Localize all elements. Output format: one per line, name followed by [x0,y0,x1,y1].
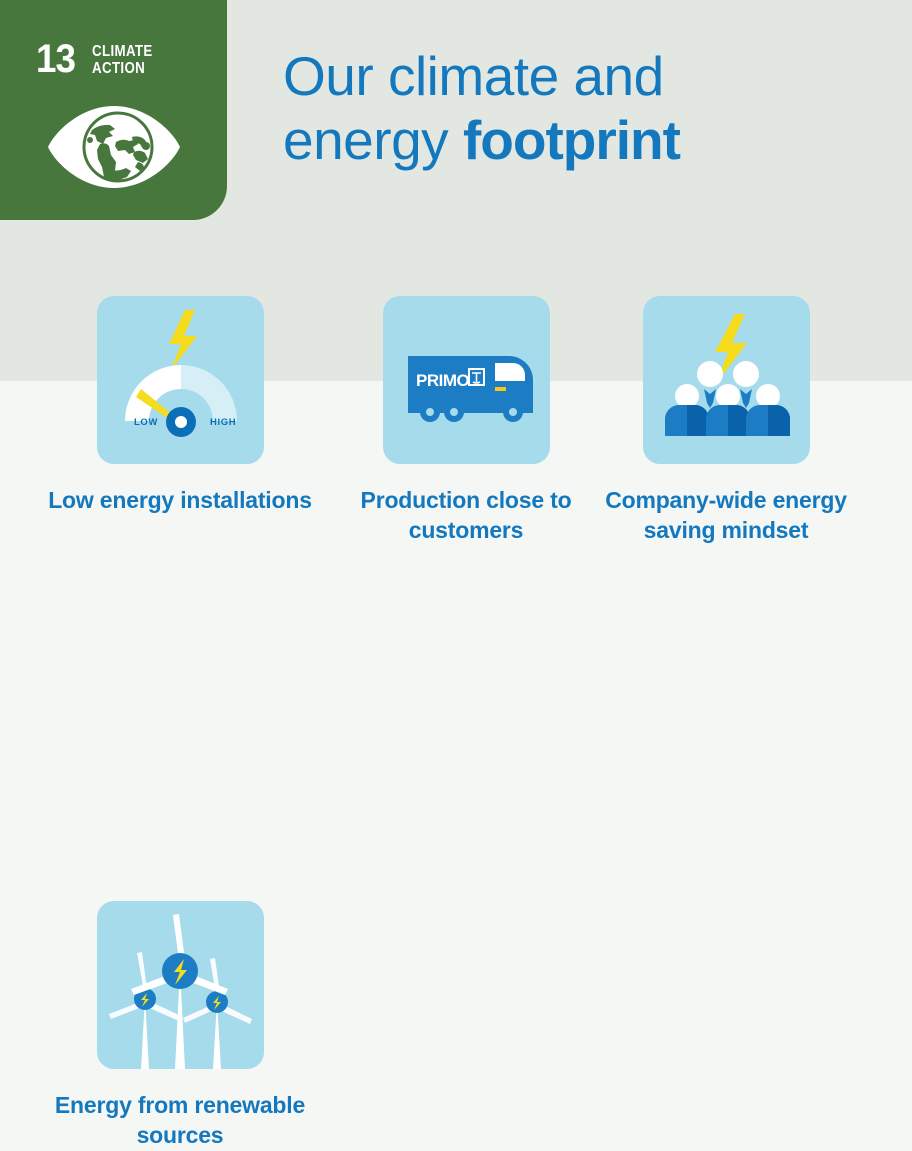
page-title: Our climate and energy footprint [283,45,883,173]
feature-card-caption: Production close to customers [316,485,616,546]
sdg-goal-title-line2: ACTION [92,60,153,77]
sdg-goal-number: 13 [36,40,75,78]
feature-card-caption: Energy from renewable sources [30,1090,330,1151]
page-title-line2: energy footprint [283,109,883,173]
eye-globe-icon [46,104,182,190]
feature-card-row-2: Energy from renewable sources [0,601,912,901]
sdg-goal-title-line1: CLIMATE [92,43,153,60]
feature-card-production-close[interactable]: PRIMO Production close to customers [316,296,616,546]
feature-card-row-1: LOW HIGH Low energy installations [0,296,912,601]
page-title-line1: Our climate and [283,45,883,109]
feature-card-caption: Company-wide energy saving mindset [576,485,876,546]
sdg-badge-header: 13 CLIMATE ACTION [36,40,162,78]
svg-text:LOW: LOW [134,417,158,428]
page-title-line2-regular: energy [283,109,463,171]
feature-card-grid: LOW HIGH Low energy installations [0,296,912,901]
delivery-truck-icon: PRIMO [383,296,550,464]
svg-text:HIGH: HIGH [210,417,236,428]
feature-card-caption: Low energy installations [48,485,312,515]
feature-card-low-energy[interactable]: LOW HIGH Low energy installations [30,296,330,515]
svg-text:PRIMO: PRIMO [416,371,470,390]
page-title-line2-bold: footprint [463,109,680,171]
wind-turbines-icon [97,901,264,1069]
sdg-goal-title: CLIMATE ACTION [92,40,153,78]
feature-card-company-wide[interactable]: Company-wide energy saving mindset [576,296,876,546]
feature-card-renewable[interactable]: Energy from renewable sources [30,901,330,1151]
sdg-goal-badge: 13 CLIMATE ACTION [0,0,227,220]
energy-gauge-icon: LOW HIGH [97,296,264,464]
people-energy-icon [643,296,810,464]
